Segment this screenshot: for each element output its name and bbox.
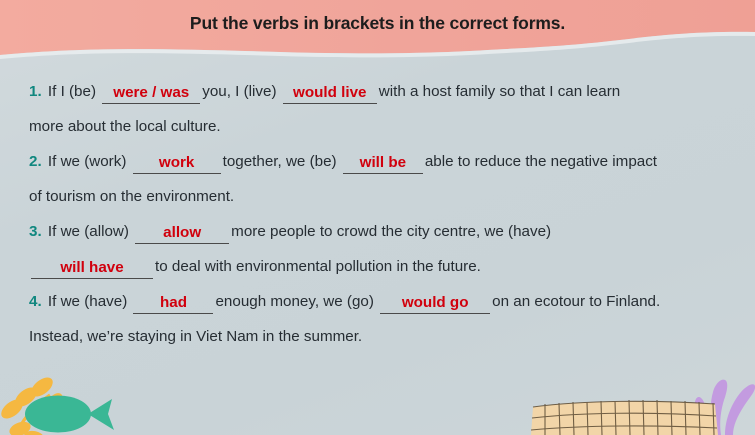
- sentence-text: you, I (live): [202, 83, 276, 100]
- sentence-text: with a host family so that I can learn: [379, 83, 620, 100]
- sentence-text: more people to crowd the city centre, we…: [231, 223, 551, 240]
- answer-blank[interactable]: work: [133, 153, 221, 174]
- question-number: 2.: [29, 153, 42, 170]
- slide-canvas: Put the verbs in brackets in the correct…: [0, 0, 755, 435]
- header-banner: Put the verbs in brackets in the correct…: [0, 0, 755, 62]
- answer-blank[interactable]: allow: [135, 223, 229, 244]
- page-title: Put the verbs in brackets in the correct…: [0, 0, 755, 46]
- sentence-text: of tourism on the environment.: [29, 188, 234, 205]
- exercise-line: 4. If we (have) hadenough money, we (go)…: [29, 284, 741, 319]
- mat-coral-decoration: [525, 340, 755, 435]
- exercise-line: will haveto deal with environmental poll…: [29, 249, 741, 284]
- exercise-line: Instead, we’re staying in Viet Nam in th…: [29, 319, 741, 354]
- seaweed-fish-decoration: [0, 351, 161, 435]
- question-number: 4.: [29, 293, 42, 310]
- exercise-content: 1. If I (be) were / wasyou, I (live) wou…: [29, 74, 741, 354]
- sentence-text: If we (allow): [48, 223, 129, 240]
- exercise-line: 3. If we (allow) allowmore people to cro…: [29, 214, 741, 249]
- sentence-text: If we (work): [48, 153, 126, 170]
- sentence-text: able to reduce the negative impact: [425, 153, 657, 170]
- answer-blank[interactable]: will have: [31, 258, 153, 279]
- answer-blank[interactable]: would go: [380, 293, 490, 314]
- sentence-text: enough money, we (go): [215, 293, 373, 310]
- question-number: 3.: [29, 223, 42, 240]
- answer-blank[interactable]: had: [133, 293, 213, 314]
- exercise-line: of tourism on the environment.: [29, 179, 741, 214]
- sentence-text: more about the local culture.: [29, 118, 221, 135]
- sentence-text: together, we (be): [223, 153, 337, 170]
- sentence-text: If I (be): [48, 83, 96, 100]
- sentence-text: Instead, we’re staying in Viet Nam in th…: [29, 328, 362, 345]
- question-number: 1.: [29, 83, 42, 100]
- answer-blank[interactable]: will be: [343, 153, 423, 174]
- bamboo-mat-icon: [531, 400, 718, 435]
- exercise-line: 1. If I (be) were / wasyou, I (live) wou…: [29, 74, 741, 109]
- exercise-line: more about the local culture.: [29, 109, 741, 144]
- fish-icon: [25, 396, 114, 433]
- sentence-text: to deal with environmental pollution in …: [155, 258, 481, 275]
- answer-blank[interactable]: would live: [283, 83, 377, 104]
- sentence-text: If we (have): [48, 293, 127, 310]
- exercise-line: 2. If we (work) worktogether, we (be) wi…: [29, 144, 741, 179]
- answer-blank[interactable]: were / was: [102, 83, 200, 104]
- sentence-text: on an ecotour to Finland.: [492, 293, 660, 310]
